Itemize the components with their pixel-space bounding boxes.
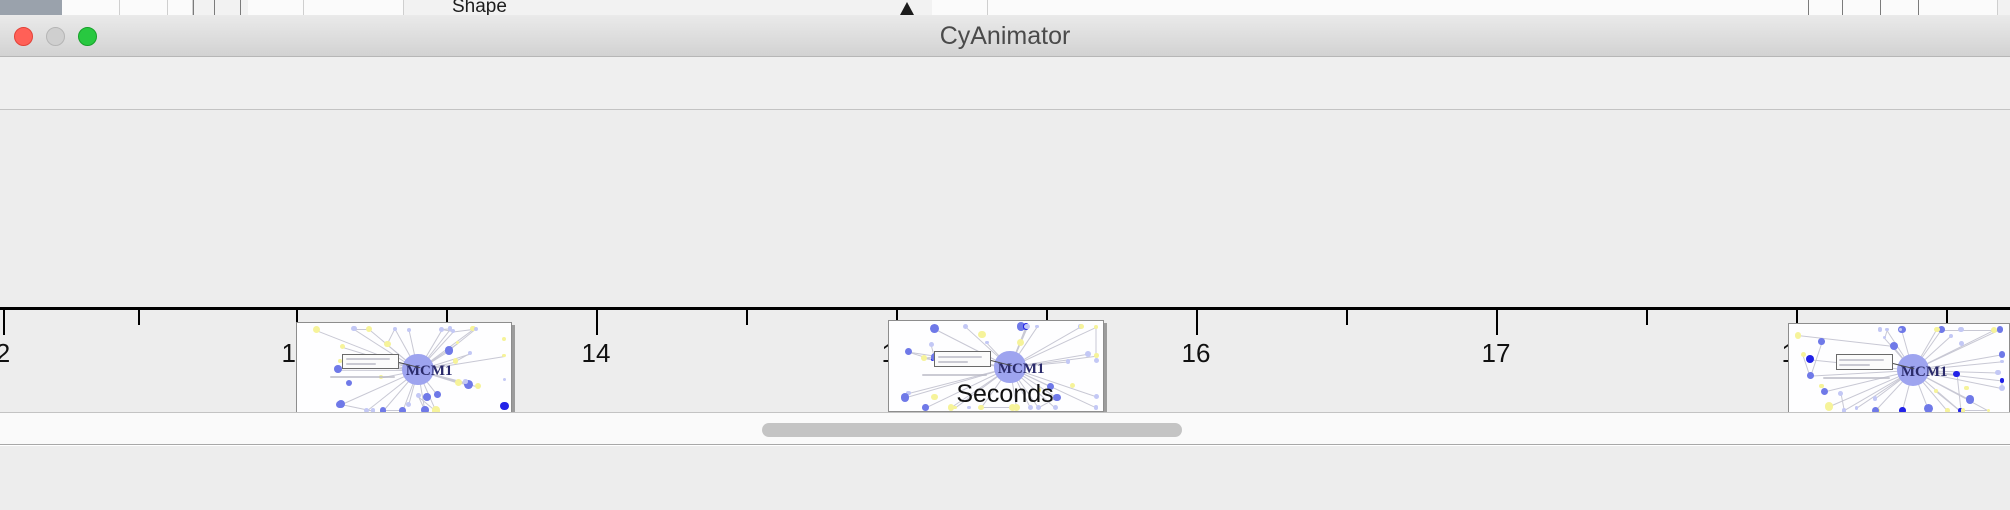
network-node: [366, 326, 372, 332]
network-node: [502, 354, 506, 358]
network-node: [1085, 351, 1091, 357]
network-node: [1999, 351, 2005, 357]
tick-minor: [138, 310, 140, 325]
network-node: [456, 341, 459, 344]
network-node: [451, 329, 456, 334]
annotation-callout: [342, 354, 398, 370]
frame-toolbar: Clear All Frames: [0, 57, 2010, 110]
network-node: [313, 326, 320, 333]
network-node: [978, 331, 986, 339]
axis-title: Seconds: [0, 380, 2010, 409]
network-node: [1958, 327, 1964, 333]
tick-label: 17: [1482, 338, 1511, 369]
network-node: [439, 327, 444, 332]
network-node: [1961, 408, 1965, 412]
annotation-text: [938, 356, 982, 358]
network-node: [921, 355, 927, 361]
network-node: [1795, 332, 1802, 339]
network-edge: [1963, 410, 1989, 411]
tick-label: 16: [1182, 338, 1211, 369]
annotation-callout: [934, 351, 990, 367]
network-caption-text: [330, 376, 395, 378]
network-node: [1995, 370, 2000, 375]
network-node: [930, 324, 939, 333]
annotation-text: [1839, 359, 1885, 361]
annotation-text: [938, 361, 968, 363]
network-edge: [1798, 335, 1894, 347]
network-node: [338, 359, 342, 363]
network-node: [1934, 327, 1940, 333]
network-node: [929, 342, 934, 347]
network-node: [1953, 371, 1960, 378]
network-node: [445, 346, 453, 354]
network-node: [1094, 325, 1098, 329]
network-node: [1801, 352, 1806, 357]
tick-major: [3, 310, 5, 335]
network-node: [334, 365, 342, 373]
network-node: [1949, 334, 1953, 338]
annotation-callout: [1836, 354, 1894, 370]
network-node: [1899, 328, 1902, 331]
network-node: [1878, 327, 1882, 331]
network-caption-text: [1823, 377, 1890, 379]
network-node: [1079, 324, 1084, 329]
title-bar: CyAnimator: [0, 15, 2010, 57]
annotation-text: [346, 363, 376, 365]
annotation-text: [1839, 364, 1870, 366]
tick-label: 2: [0, 338, 10, 369]
network-node: [905, 348, 912, 355]
network-node: [1987, 409, 1990, 412]
tick-major: [596, 310, 598, 335]
network-node: [502, 337, 506, 341]
network-node: [1066, 359, 1070, 363]
network-node: [2000, 360, 2004, 364]
network-node: [1806, 355, 1814, 363]
tick-major: [1496, 310, 1498, 335]
background-app-strip: Shape: [0, 0, 2010, 15]
window-title: CyAnimator: [0, 15, 2010, 57]
network-node: [468, 351, 472, 355]
network-node: [1094, 358, 1099, 363]
network-node: [474, 327, 478, 331]
network-node: [1991, 327, 1997, 333]
timeline-axis: [0, 307, 2010, 310]
tick-major: [1196, 310, 1198, 335]
annotation-text: [346, 358, 390, 360]
network-node: [1997, 326, 2003, 332]
cyanimator-window: Shape CyAnimator Clear All Frames 213: [0, 0, 2010, 510]
network-node: [1807, 372, 1814, 379]
network-node: [1094, 353, 1099, 358]
network-node: [407, 328, 411, 332]
playback-bar: Animation Speed:: [0, 446, 2010, 510]
network-caption-text: [922, 374, 987, 376]
network-node: [1017, 339, 1024, 346]
timeline-scrollbar-thumb[interactable]: [762, 423, 1182, 437]
tick-label: 14: [582, 338, 611, 369]
tick-minor: [1646, 310, 1648, 325]
tick-minor: [746, 310, 748, 325]
background-app-label: Shape: [452, 0, 507, 15]
network-node: [393, 327, 397, 331]
network-node: [1035, 325, 1039, 329]
network-node: [1818, 338, 1825, 345]
network-node: [1024, 324, 1030, 330]
timeline-panel[interactable]: 2131415161718 MCM1MCM1MCM1 Seconds: [0, 110, 2010, 413]
tick-minor: [1346, 310, 1348, 325]
network-node: [1885, 328, 1889, 332]
network-node: [985, 341, 988, 344]
